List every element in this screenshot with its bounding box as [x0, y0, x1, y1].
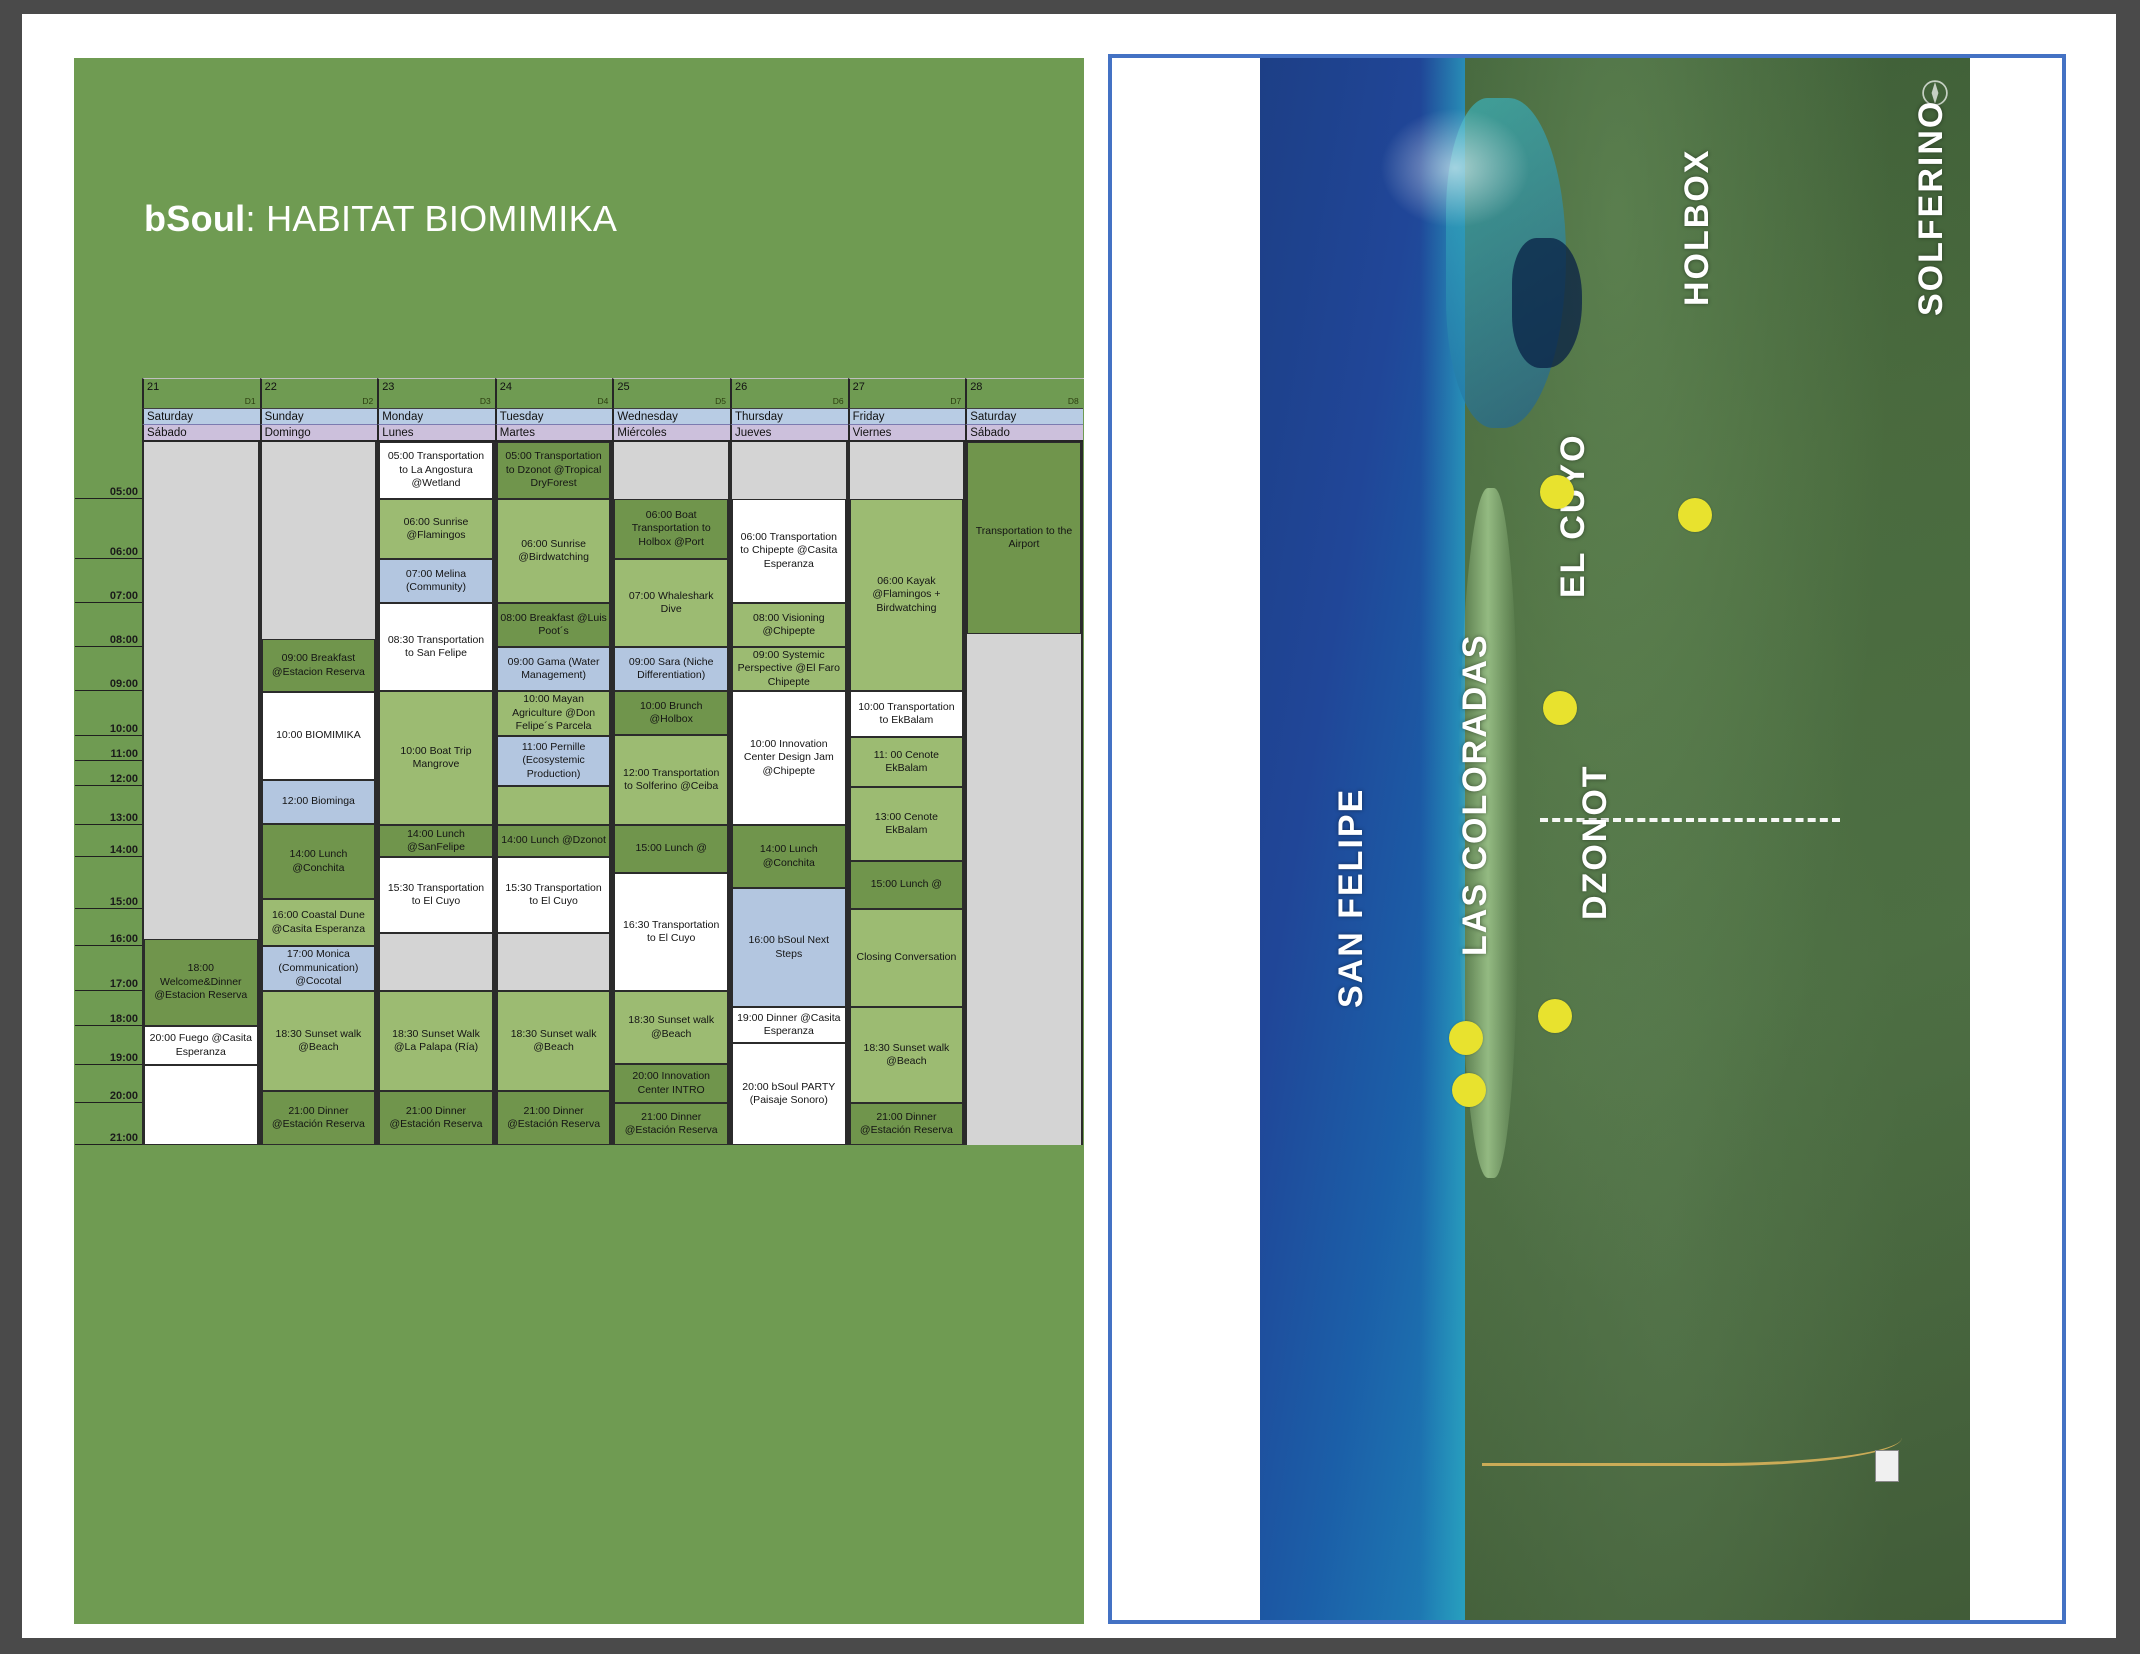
calendar-event-label: 14:00 Lunch @Conchita: [735, 843, 843, 870]
calendar-event[interactable]: 11:00 Pernille (Ecosystemic Production): [497, 736, 611, 786]
calendar-dayname-es-24: Martes: [495, 425, 613, 442]
calendar-dayname-en-28: Saturday: [965, 408, 1083, 425]
calendar-event-label: 06:00 Sunrise @Flamingos: [382, 516, 490, 543]
calendar-top-band: [74, 358, 1084, 379]
calendar-event-label: 11: 00 Cenote EkBalam: [853, 749, 961, 776]
calendar-header-gutter: [74, 378, 142, 444]
calendar-event-label: 16:00 bSoul Next Steps: [735, 934, 843, 961]
calendar-event[interactable]: 18:30 Sunset Walk @La Palapa (Ría): [379, 991, 493, 1091]
time-label-0800: 08:00: [75, 603, 143, 647]
calendar-dayname-en-24: Tuesday: [495, 408, 613, 425]
calendar-day-column-21: 18:00 Welcome&Dinner @Estacion Reserva20…: [142, 442, 260, 1145]
calendar-event[interactable]: 18:30 Sunset walk @Beach: [850, 1007, 964, 1103]
time-label-0900: 09:00: [75, 647, 143, 691]
time-label-text: 11:00: [110, 748, 138, 760]
calendar-event-label: 15:30 Transportation to El Cuyo: [500, 882, 608, 909]
calendar-daynum-D3: D3: [377, 394, 495, 408]
calendar-event-label: 14:00 Lunch @Dzonot: [501, 834, 606, 848]
calendar-event[interactable]: 09:00 Gama (Water Management): [497, 647, 611, 691]
calendar-event[interactable]: 21:00 Dinner @Estación Reserva: [497, 1091, 611, 1145]
time-label-2100: 21:00: [75, 1103, 143, 1145]
calendar-event[interactable]: 20:00 Fuego @Casita Esperanza: [144, 1026, 258, 1065]
calendar-event-label: 07:00 Melina (Community): [382, 568, 490, 595]
time-label-text: 14:00: [110, 844, 138, 856]
title-subtitle: : HABITAT BIOMIMIKA: [245, 198, 617, 239]
time-label-text: 19:00: [110, 1052, 138, 1064]
time-label-1700: 17:00: [75, 946, 143, 991]
calendar-event-label: 18:30 Sunset walk @Beach: [617, 1014, 725, 1041]
calendar-event[interactable]: 16:30 Transportation to El Cuyo: [614, 873, 728, 991]
calendar-event[interactable]: 18:30 Sunset walk @Beach: [614, 991, 728, 1064]
calendar-event[interactable]: 19:00 Dinner @Casita Esperanza: [732, 1007, 846, 1043]
map-scale-icon: [1875, 1450, 1899, 1482]
calendar-day-column-24: 05:00 Transportation to Dzonot @Tropical…: [495, 442, 613, 1145]
calendar-daynum-D2: D2: [260, 394, 378, 408]
las-coloradas-marker[interactable]: [1449, 1021, 1483, 1055]
calendar-event-label: 16:30 Transportation to El Cuyo: [617, 919, 725, 946]
time-label-1200: 12:00: [75, 761, 143, 786]
calendar-event-label: 18:30 Sunset walk @Beach: [853, 1042, 961, 1069]
calendar-event[interactable]: 15:00 Lunch @: [614, 825, 728, 873]
map-label-las-coloradas: LAS COLORADAS: [1456, 633, 1495, 956]
calendar-event-label: 20:00 Innovation Center INTRO: [617, 1070, 725, 1097]
calendar-event-label: 20:00 bSoul PARTY (Paisaje Sonoro): [735, 1081, 843, 1108]
calendar-dayname-es-22: Domingo: [260, 425, 378, 442]
calendar-event-label: 21:00 Dinner @Estación Reserva: [853, 1111, 961, 1138]
san-felipe-marker[interactable]: [1452, 1073, 1486, 1107]
calendar-event-label: 20:00 Fuego @Casita Esperanza: [147, 1032, 255, 1059]
calendar-event-label: 21:00 Dinner @Estación Reserva: [617, 1111, 725, 1138]
calendar-date-24: 24: [495, 378, 613, 394]
calendar-event[interactable]: Closing Conversation: [850, 909, 964, 1007]
calendar-event[interactable]: 07:00 Whaleshark Dive: [614, 559, 728, 647]
calendar-event-label: 08:00 Visioning @Chipepte: [735, 612, 843, 639]
calendar-event-label: 18:30 Sunset walk @Beach: [265, 1028, 373, 1055]
time-label-text: 12:00: [110, 773, 138, 785]
calendar-event[interactable]: 09:00 Breakfast @Estacion Reserva: [262, 639, 376, 692]
calendar-event[interactable]: 06:00 Boat Transportation to Holbox @Por…: [614, 499, 728, 559]
calendar-event[interactable]: 14:00 Lunch @Conchita: [262, 824, 376, 899]
calendar-event[interactable]: Transportation to the Airport: [967, 442, 1081, 634]
calendar-event-label: 09:00 Systemic Perspective @El Faro Chip…: [735, 649, 843, 690]
calendar-dayname-en-25: Wednesday: [612, 408, 730, 425]
calendar-event-label: 09:00 Gama (Water Management): [500, 656, 608, 683]
calendar-event[interactable]: 10:00 Innovation Center Design Jam @Chip…: [732, 691, 846, 825]
calendar-event-label: 18:30 Sunset Walk @La Palapa (Ría): [382, 1028, 490, 1055]
calendar-event[interactable]: 21:00 Dinner @Estación Reserva: [262, 1091, 376, 1145]
time-label-text: 06:00: [110, 546, 138, 558]
calendar-event-label: 15:30 Transportation to El Cuyo: [382, 882, 490, 909]
calendar-event[interactable]: 21:00 Dinner @Estación Reserva: [379, 1091, 493, 1145]
time-label-2000: 20:00: [75, 1065, 143, 1103]
calendar-dayname-en-26: Thursday: [730, 408, 848, 425]
brand-name: bSoul: [144, 198, 245, 239]
calendar-event[interactable]: 18:00 Welcome&Dinner @Estacion Reserva: [144, 939, 258, 1026]
calendar-event-label: 15:00 Lunch @: [635, 842, 706, 856]
page-title: bSoul: HABITAT BIOMIMIKA: [144, 198, 617, 240]
map-panel: HOLBOXSOLFERINOEL CUYOLAS COLORADASDZONO…: [1108, 54, 2066, 1624]
calendar-event-label: 10:00 Brunch @Holbox: [617, 700, 725, 727]
calendar-event[interactable]: 15:30 Transportation to El Cuyo: [497, 857, 611, 933]
calendar-daynum-D5: D5: [612, 394, 730, 408]
calendar-day-column-28: Transportation to the Airport: [965, 442, 1083, 1145]
calendar-event[interactable]: 11: 00 Cenote EkBalam: [850, 737, 964, 787]
calendar-event-label: 09:00 Breakfast @Estacion Reserva: [265, 652, 373, 679]
time-label-1500: 15:00: [75, 857, 143, 909]
calendar-event-label: 16:00 Coastal Dune @Casita Esperanza: [265, 909, 373, 936]
time-label-1400: 14:00: [75, 825, 143, 857]
calendar-event-label: 10:00 Transportation to EkBalam: [853, 701, 961, 728]
calendar-event[interactable]: 05:00 Transportation to Dzonot @Tropical…: [497, 442, 611, 499]
calendar-event[interactable]: 20:00 Innovation Center INTRO: [614, 1064, 728, 1103]
calendar-event[interactable]: 10:00 Brunch @Holbox: [614, 691, 728, 735]
calendar-event-label: 05:00 Transportation to Dzonot @Tropical…: [500, 450, 608, 491]
time-label-1300: 13:00: [75, 786, 143, 825]
time-label-text: 20:00: [110, 1090, 138, 1102]
calendar-event[interactable]: [497, 786, 611, 825]
calendar-event-label: 12:00 Biominga: [282, 795, 355, 809]
calendar-event[interactable]: [144, 1065, 258, 1145]
el-cuyo-marker[interactable]: [1543, 691, 1577, 725]
time-label-text: 05:00: [110, 486, 138, 498]
calendar-event-label: 10:00 Boat Trip Mangrove: [382, 745, 490, 772]
map-label-el-cuyo: EL CUYO: [1554, 433, 1593, 598]
calendar-event[interactable]: 21:00 Dinner @Estación Reserva: [850, 1103, 964, 1145]
calendar-date-23: 23: [377, 378, 495, 394]
calendar-event[interactable]: 06:00 Kayak @Flamingos + Birdwatching: [850, 499, 964, 691]
calendar-event[interactable]: 08:00 Visioning @Chipepte: [732, 603, 846, 647]
solferino-marker[interactable]: [1678, 498, 1712, 532]
calendar-date-27: 27: [848, 378, 966, 394]
calendar-event-label: 06:00 Sunrise @Birdwatching: [500, 538, 608, 565]
calendar-event-label: 21:00 Dinner @Estación Reserva: [382, 1105, 490, 1132]
map-label-dzonot: DZONOT: [1576, 764, 1615, 920]
calendar-event[interactable]: 07:00 Melina (Community): [379, 559, 493, 603]
calendar-event[interactable]: 09:00 Systemic Perspective @El Faro Chip…: [732, 647, 846, 691]
calendar-day-column-25: 06:00 Boat Transportation to Holbox @Por…: [612, 442, 730, 1145]
calendar-event[interactable]: [379, 933, 493, 991]
calendar-day-column-26: 06:00 Transportation to Chipepte @Casita…: [730, 442, 848, 1145]
calendar-event[interactable]: 06:00 Transportation to Chipepte @Casita…: [732, 499, 846, 603]
time-label-0700: 07:00: [75, 559, 143, 603]
calendar-event[interactable]: 05:00 Transportation to La Angostura @We…: [379, 442, 493, 499]
calendar-event[interactable]: 20:00 bSoul PARTY (Paisaje Sonoro): [732, 1043, 846, 1145]
calendar-event[interactable]: 17:00 Monica (Communication) @Cocotal: [262, 946, 376, 991]
time-label-1600: 16:00: [75, 909, 143, 946]
calendar-event[interactable]: 12:00 Transportation to Solferino @Ceiba: [614, 735, 728, 825]
calendar-event-label: 18:00 Welcome&Dinner @Estacion Reserva: [147, 962, 255, 1003]
calendar-event[interactable]: 13:00 Cenote EkBalam: [850, 787, 964, 861]
calendar-day-column-27: 06:00 Kayak @Flamingos + Birdwatching10:…: [848, 442, 966, 1145]
calendar-daynum-D8: D8: [965, 394, 1083, 408]
bay-area: [1512, 238, 1582, 368]
calendar-event-label: 21:00 Dinner @Estación Reserva: [265, 1105, 373, 1132]
calendar-event-label: 05:00 Transportation to La Angostura @We…: [382, 450, 490, 491]
calendar-date-22: 22: [260, 378, 378, 394]
calendar-date-21: 21: [142, 378, 260, 394]
calendar-event[interactable]: [497, 933, 611, 991]
calendar-date-26: 26: [730, 378, 848, 394]
calendar-event[interactable]: 14:00 Lunch @Conchita: [732, 825, 846, 888]
calendar-dayname-en-21: Saturday: [142, 408, 260, 425]
calendar-event-label: 14:00 Lunch @Conchita: [265, 848, 373, 875]
calendar-event[interactable]: 08:00 Breakfast @Luis Poot´s: [497, 603, 611, 647]
calendar-event-label: 08:00 Breakfast @Luis Poot´s: [500, 612, 608, 639]
calendar-dayname-en-22: Sunday: [260, 408, 378, 425]
highway-line: [1482, 1403, 1902, 1466]
calendar-event-label: 14:00 Lunch @SanFelipe: [382, 828, 490, 855]
calendar-event-label: 10:00 Innovation Center Design Jam @Chip…: [735, 738, 843, 779]
calendar-event-label: 10:00 Mayan Agriculture @Don Felipe´s Pa…: [500, 693, 608, 734]
calendar-event-label: 08:30 Transportation to San Felipe: [382, 634, 490, 661]
calendar-event[interactable]: 09:00 Sara (Niche Differentiation): [614, 647, 728, 691]
slide-page: bSoul: HABITAT BIOMIMIKA 21D1SaturdaySáb…: [0, 0, 2140, 1654]
calendar-event[interactable]: 18:30 Sunset walk @Beach: [262, 991, 376, 1091]
time-label-text: 18:00: [110, 1013, 138, 1025]
calendar-event[interactable]: 10:00 BIOMIMIKA: [262, 692, 376, 780]
calendar-event-label: 06:00 Boat Transportation to Holbox @Por…: [617, 509, 725, 550]
calendar-event-label: Transportation to the Airport: [970, 525, 1078, 552]
time-label-0500: 05:00: [75, 442, 143, 499]
schedule-calendar: 21D1SaturdaySábado22D2SundayDomingo23D3M…: [74, 358, 1084, 1288]
calendar-dayname-en-27: Friday: [848, 408, 966, 425]
time-label-0600: 06:00: [75, 499, 143, 559]
time-label-1000: 10:00: [75, 691, 143, 736]
time-label-text: 13:00: [110, 812, 138, 824]
calendar-event[interactable]: 14:00 Lunch @Dzonot: [497, 825, 611, 857]
calendar-day-column-23: 05:00 Transportation to La Angostura @We…: [377, 442, 495, 1145]
time-label-text: 17:00: [110, 978, 138, 990]
calendar-date-28: 28: [965, 378, 1083, 394]
time-label-1100: 11:00: [75, 736, 143, 761]
time-label-text: 21:00: [110, 1132, 138, 1144]
calendar-event-label: 17:00 Monica (Communication) @Cocotal: [265, 948, 373, 989]
time-label-text: 08:00: [110, 634, 138, 646]
calendar-event-label: 09:00 Sara (Niche Differentiation): [617, 656, 725, 683]
calendar-event[interactable]: 06:00 Sunrise @Flamingos: [379, 499, 493, 559]
time-axis: 05:0006:0007:0008:0009:0010:0011:0012:00…: [74, 442, 143, 1145]
calendar-daynum-D1: D1: [142, 394, 260, 408]
calendar-daynum-D4: D4: [495, 394, 613, 408]
satellite-map-image: HOLBOXSOLFERINOEL CUYOLAS COLORADASDZONO…: [1260, 58, 1970, 1620]
calendar-event[interactable]: 06:00 Sunrise @Birdwatching: [497, 499, 611, 603]
calendar-event-label: 07:00 Whaleshark Dive: [617, 590, 725, 617]
dzonot-marker[interactable]: [1538, 999, 1572, 1033]
calendar-event-label: 11:00 Pernille (Ecosystemic Production): [500, 741, 608, 782]
time-label-text: 15:00: [110, 896, 138, 908]
calendar-event[interactable]: 14:00 Lunch @SanFelipe: [379, 825, 493, 857]
time-label-1900: 19:00: [75, 1026, 143, 1065]
calendar-event[interactable]: 08:30 Transportation to San Felipe: [379, 603, 493, 691]
calendar-event[interactable]: 16:00 Coastal Dune @Casita Esperanza: [262, 899, 376, 946]
calendar-dayname-es-21: Sábado: [142, 425, 260, 442]
calendar-event-label: 13:00 Cenote EkBalam: [853, 811, 961, 838]
calendar-dayname-es-27: Viernes: [848, 425, 966, 442]
time-label-1800: 18:00: [75, 991, 143, 1026]
calendar-day-column-22: 09:00 Breakfast @Estacion Reserva10:00 B…: [260, 442, 378, 1145]
calendar-event[interactable]: 16:00 bSoul Next Steps: [732, 888, 846, 1007]
time-label-text: 10:00: [110, 723, 138, 735]
time-label-text: 07:00: [110, 590, 138, 602]
time-label-text: 16:00: [110, 933, 138, 945]
calendar-event-label: 19:00 Dinner @Casita Esperanza: [735, 1012, 843, 1039]
calendar-dayname-es-28: Sábado: [965, 425, 1083, 442]
calendar-event[interactable]: 21:00 Dinner @Estación Reserva: [614, 1103, 728, 1145]
calendar-event[interactable]: 10:00 Mayan Agriculture @Don Felipe´s Pa…: [497, 691, 611, 736]
calendar-event[interactable]: 12:00 Biominga: [262, 780, 376, 824]
calendar-event[interactable]: 10:00 Boat Trip Mangrove: [379, 691, 493, 825]
calendar-event[interactable]: 10:00 Transportation to EkBalam: [850, 691, 964, 737]
calendar-event[interactable]: 15:30 Transportation to El Cuyo: [379, 857, 493, 933]
calendar-event-label: 12:00 Transportation to Solferino @Ceiba: [617, 767, 725, 794]
map-label-san-felipe: SAN FELIPE: [1332, 788, 1371, 1008]
calendar-event-label: 15:00 Lunch @: [871, 878, 942, 892]
calendar-event-label: Closing Conversation: [856, 951, 956, 965]
map-label-solferino: SOLFERINO: [1912, 100, 1951, 316]
calendar-dayname-es-23: Lunes: [377, 425, 495, 442]
calendar-daynum-D6: D6: [730, 394, 848, 408]
schedule-panel: bSoul: HABITAT BIOMIMIKA 21D1SaturdaySáb…: [74, 58, 1084, 1624]
calendar-date-25: 25: [612, 378, 730, 394]
calendar-event[interactable]: 15:00 Lunch @: [850, 861, 964, 909]
calendar-event-label: 06:00 Kayak @Flamingos + Birdwatching: [853, 575, 961, 616]
calendar-daynum-D7: D7: [848, 394, 966, 408]
calendar-dayname-es-26: Jueves: [730, 425, 848, 442]
map-label-holbox: HOLBOX: [1678, 149, 1717, 306]
time-label-text: 09:00: [110, 678, 138, 690]
calendar-dayname-en-23: Monday: [377, 408, 495, 425]
calendar-dayname-es-25: Miércoles: [612, 425, 730, 442]
holbox-marker[interactable]: [1540, 475, 1574, 509]
slide-canvas: bSoul: HABITAT BIOMIMIKA 21D1SaturdaySáb…: [22, 14, 2116, 1638]
calendar-event[interactable]: 18:30 Sunset walk @Beach: [497, 991, 611, 1091]
calendar-event-label: 10:00 BIOMIMIKA: [276, 729, 361, 743]
calendar-grid: 21D1SaturdaySábado22D2SundayDomingo23D3M…: [74, 358, 1084, 1288]
calendar-event-label: 21:00 Dinner @Estación Reserva: [500, 1105, 608, 1132]
cloud-overlay: [1380, 108, 1530, 228]
calendar-event-label: 18:30 Sunset walk @Beach: [500, 1028, 608, 1055]
calendar-event-label: 06:00 Transportation to Chipepte @Casita…: [735, 531, 843, 572]
